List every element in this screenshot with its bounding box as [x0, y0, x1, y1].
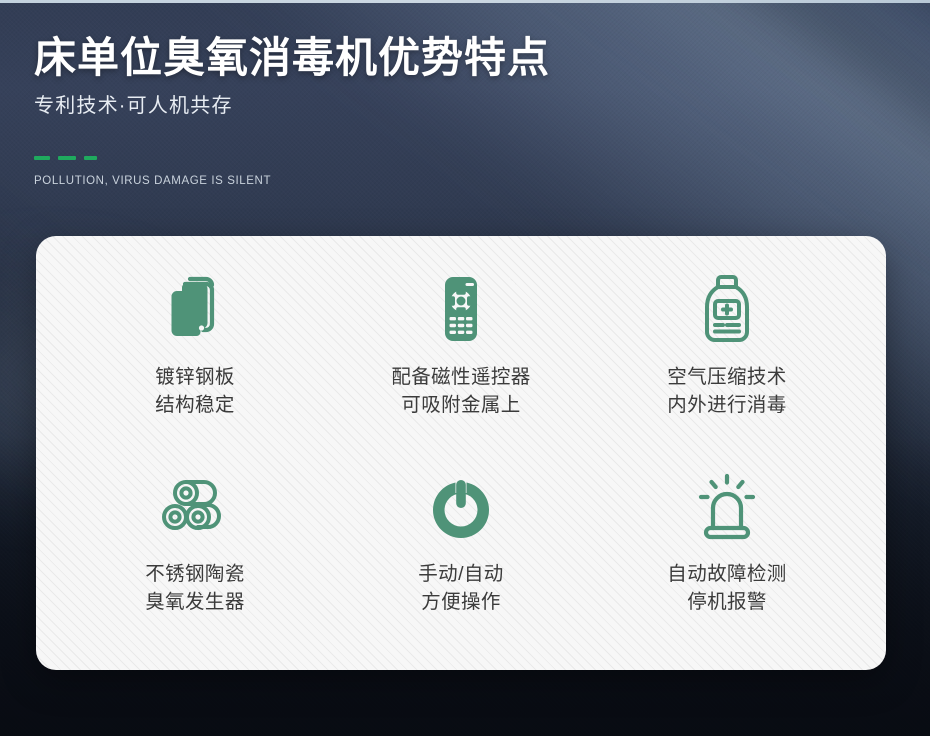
divider-dash-2	[58, 156, 76, 160]
feature-item-5: 手动/自动 方便操作	[328, 455, 594, 656]
top-edge-strip	[0, 0, 930, 3]
feature-caption-1: 镀锌钢板 结构稳定	[155, 364, 235, 419]
feature-3-line-2: 内外进行消毒	[667, 392, 786, 420]
medical-bottle-icon	[689, 270, 765, 348]
ceramic-tubes-icon	[157, 475, 233, 545]
divider-dash-1	[34, 156, 50, 160]
feature-caption-4: 不锈钢陶瓷 臭氧发生器	[145, 561, 245, 616]
remote-control-icon	[423, 270, 499, 348]
feature-caption-2: 配备磁性遥控器 可吸附金属上	[391, 364, 530, 419]
feature-2-line-2: 可吸附金属上	[391, 392, 530, 420]
header: 床单位臭氧消毒机优势特点 专利技术·可人机共存 POLLUTION, VIRUS…	[34, 34, 550, 187]
feature-caption-5: 手动/自动 方便操作	[418, 561, 503, 616]
feature-2-line-1: 配备磁性遥控器	[391, 366, 530, 388]
feature-caption-3: 空气压缩技术 内外进行消毒	[667, 364, 786, 419]
feature-item-3: 空气压缩技术 内外进行消毒	[594, 254, 860, 455]
feature-5-line-2: 方便操作	[418, 589, 503, 617]
product-feature-poster: 床单位臭氧消毒机优势特点 专利技术·可人机共存 POLLUTION, VIRUS…	[0, 0, 930, 736]
english-tagline: POLLUTION, VIRUS DAMAGE IS SILENT	[34, 175, 550, 187]
feature-4-line-1: 不锈钢陶瓷	[145, 563, 245, 585]
feature-item-2: 配备磁性遥控器 可吸附金属上	[328, 254, 594, 455]
feature-6-line-1: 自动故障检测	[667, 563, 786, 585]
alarm-siren-icon	[689, 475, 765, 545]
feature-item-1: 镀锌钢板 结构稳定	[62, 254, 328, 455]
power-button-icon	[425, 475, 497, 545]
feature-4-line-2: 臭氧发生器	[145, 589, 245, 617]
divider-dashes	[34, 156, 550, 160]
feature-1-line-2: 结构稳定	[155, 392, 235, 420]
divider-dash-3	[84, 156, 97, 160]
features-card: 镀锌钢板 结构稳定	[36, 236, 886, 670]
features-grid: 镀锌钢板 结构稳定	[36, 236, 886, 670]
feature-3-line-1: 空气压缩技术	[667, 366, 786, 388]
feature-6-line-2: 停机报警	[667, 589, 786, 617]
feature-1-line-1: 镀锌钢板	[155, 366, 235, 388]
feature-caption-6: 自动故障检测 停机报警	[667, 561, 786, 616]
steel-plates-icon	[157, 270, 233, 348]
feature-5-line-1: 手动/自动	[418, 563, 503, 585]
feature-item-6: 自动故障检测 停机报警	[594, 455, 860, 656]
page-subtitle: 专利技术·可人机共存	[34, 94, 550, 118]
feature-item-4: 不锈钢陶瓷 臭氧发生器	[62, 455, 328, 656]
page-title: 床单位臭氧消毒机优势特点	[34, 34, 550, 81]
